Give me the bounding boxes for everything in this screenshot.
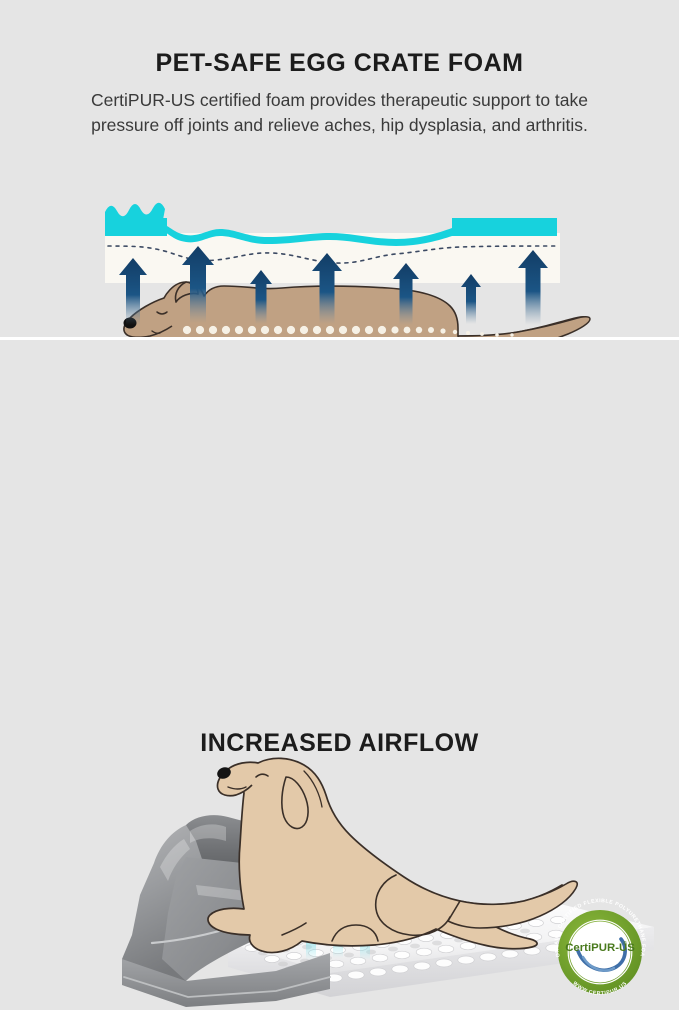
page-title-top: PET-SAFE EGG CRATE FOAM [0,48,679,78]
panel-increased-airflow: INCREASED AIRFLOW [0,340,679,679]
infographic-page: PET-SAFE EGG CRATE FOAM CertiPUR-US cert… [0,0,679,679]
dog-on-foam-cross-section-illustration [0,140,679,330]
badge-registered-mark: ® [623,940,627,947]
description-top: CertiPUR-US certified foam provides ther… [22,88,657,138]
description-top-line-2: pressure off joints and relieve aches, h… [22,113,657,138]
description-top-line-1: CertiPUR-US certified foam provides ther… [22,88,657,113]
dog-on-bolster-bed-illustration: CertiPUR-US ® CONTAINS CERTIFIED FLEXIBL… [0,745,679,1010]
panel-pet-safe-egg-crate-foam: PET-SAFE EGG CRATE FOAM CertiPUR-US cert… [0,0,679,337]
